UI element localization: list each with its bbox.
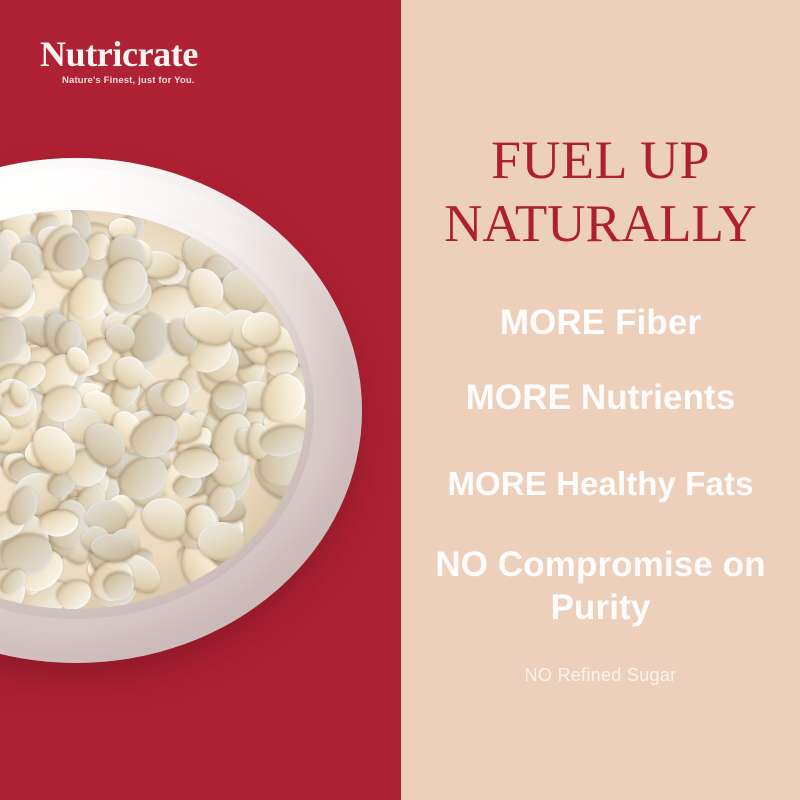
benefit-item-fiber: MORE Fiber [401, 305, 800, 340]
left-image-panel: Nutricrate Nature's Finest, just for You… [0, 0, 401, 800]
benefit-item-nutrients: MORE Nutrients [401, 380, 800, 415]
right-content-panel: FUEL UP NATURALLY MORE Fiber MORE Nutrie… [401, 0, 800, 800]
product-photo [0, 158, 362, 663]
headline-line-1: FUEL UP [401, 128, 800, 193]
benefit-item-purity: NO Compromise on Purity [401, 544, 800, 629]
headline-line-2: NATURALLY [401, 193, 800, 257]
brand-wordmark: Nutricrate [40, 36, 290, 72]
seed [0, 473, 1, 512]
footnote-no-refined-sugar: NO Refined Sugar [401, 665, 800, 686]
benefit-list: MORE Fiber MORE Nutrients MORE Healthy F… [401, 305, 800, 629]
brand-tagline: Nature's Finest, just for You. [62, 75, 290, 86]
brand-logo[interactable]: Nutricrate Nature's Finest, just for You… [40, 36, 290, 86]
benefit-item-healthy-fats: MORE Healthy Fats [401, 467, 800, 500]
promotional-poster: Nutricrate Nature's Finest, just for You… [0, 0, 800, 800]
page-title: FUEL UP NATURALLY [401, 128, 800, 256]
